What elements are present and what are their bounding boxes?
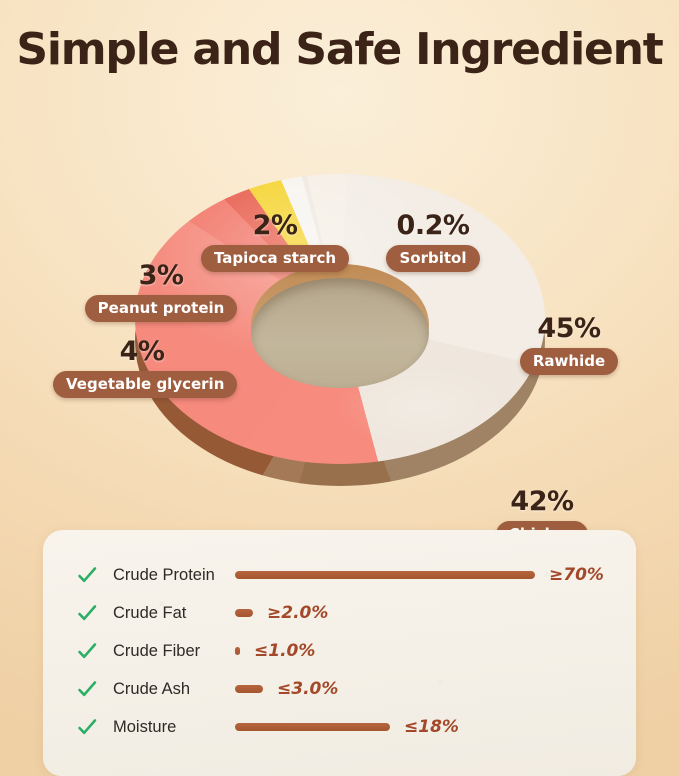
slice-label-sorbitol[interactable]: 0.2% Sorbitol: [374, 212, 492, 272]
slice-percent: 0.2%: [374, 212, 492, 240]
nutrient-value: ≥2.0%: [267, 603, 328, 623]
slice-label-peanut-protein[interactable]: 3% Peanut protein: [80, 262, 242, 322]
nutrient-label: Crude Fat: [113, 604, 186, 623]
table-row: Crude Fat ≥2.0%: [43, 594, 636, 632]
slice-name-pill: Rawhide: [520, 348, 618, 375]
nutrient-bar: [235, 571, 535, 579]
slice-percent: 45%: [508, 315, 630, 343]
table-row: Crude Ash ≤3.0%: [43, 670, 636, 708]
nutrient-bar: [235, 647, 240, 655]
slice-name-pill: Sorbitol: [386, 245, 479, 272]
slice-percent: 4%: [53, 338, 231, 366]
nutrient-label: Moisture: [113, 718, 176, 737]
slice-label-vegetable-glycerin[interactable]: 4% Vegetable glycerin: [53, 338, 231, 398]
guaranteed-analysis-card: Crude Protein ≥70% Crude Fat ≥2.0% Crude…: [43, 530, 636, 776]
slice-percent: 3%: [80, 262, 242, 290]
nutrient-label: Crude Ash: [113, 680, 190, 699]
donut-graphic: [135, 160, 545, 490]
slice-name-pill: Peanut protein: [85, 295, 238, 322]
slice-percent: 2%: [195, 212, 355, 240]
check-icon: [77, 641, 97, 661]
check-icon: [77, 565, 97, 585]
slice-label-rawhide[interactable]: 45% Rawhide: [508, 315, 630, 375]
nutrient-value: ≤3.0%: [277, 679, 338, 699]
nutrient-bar: [235, 723, 390, 731]
slice-percent: 42%: [483, 488, 601, 516]
donut-hole: [251, 278, 429, 388]
table-row: Moisture ≤18%: [43, 708, 636, 746]
nutrient-label: Crude Protein: [113, 566, 215, 585]
nutrient-bar: [235, 685, 263, 693]
table-row: Crude Protein ≥70%: [43, 556, 636, 594]
page-title: Simple and Safe Ingredient: [0, 24, 679, 75]
table-row: Crude Fiber ≤1.0%: [43, 632, 636, 670]
ingredient-donut-chart: 2% Tapioca starch 0.2% Sorbitol 3% Peanu…: [0, 100, 679, 520]
nutrient-label: Crude Fiber: [113, 642, 200, 661]
check-icon: [77, 679, 97, 699]
nutrient-bar: [235, 609, 253, 617]
slice-name-pill: Vegetable glycerin: [53, 371, 237, 398]
check-icon: [77, 603, 97, 623]
nutrient-value: ≤1.0%: [254, 641, 315, 661]
nutrient-value: ≤18%: [404, 717, 459, 737]
check-icon: [77, 717, 97, 737]
nutrient-value: ≥70%: [549, 565, 604, 585]
